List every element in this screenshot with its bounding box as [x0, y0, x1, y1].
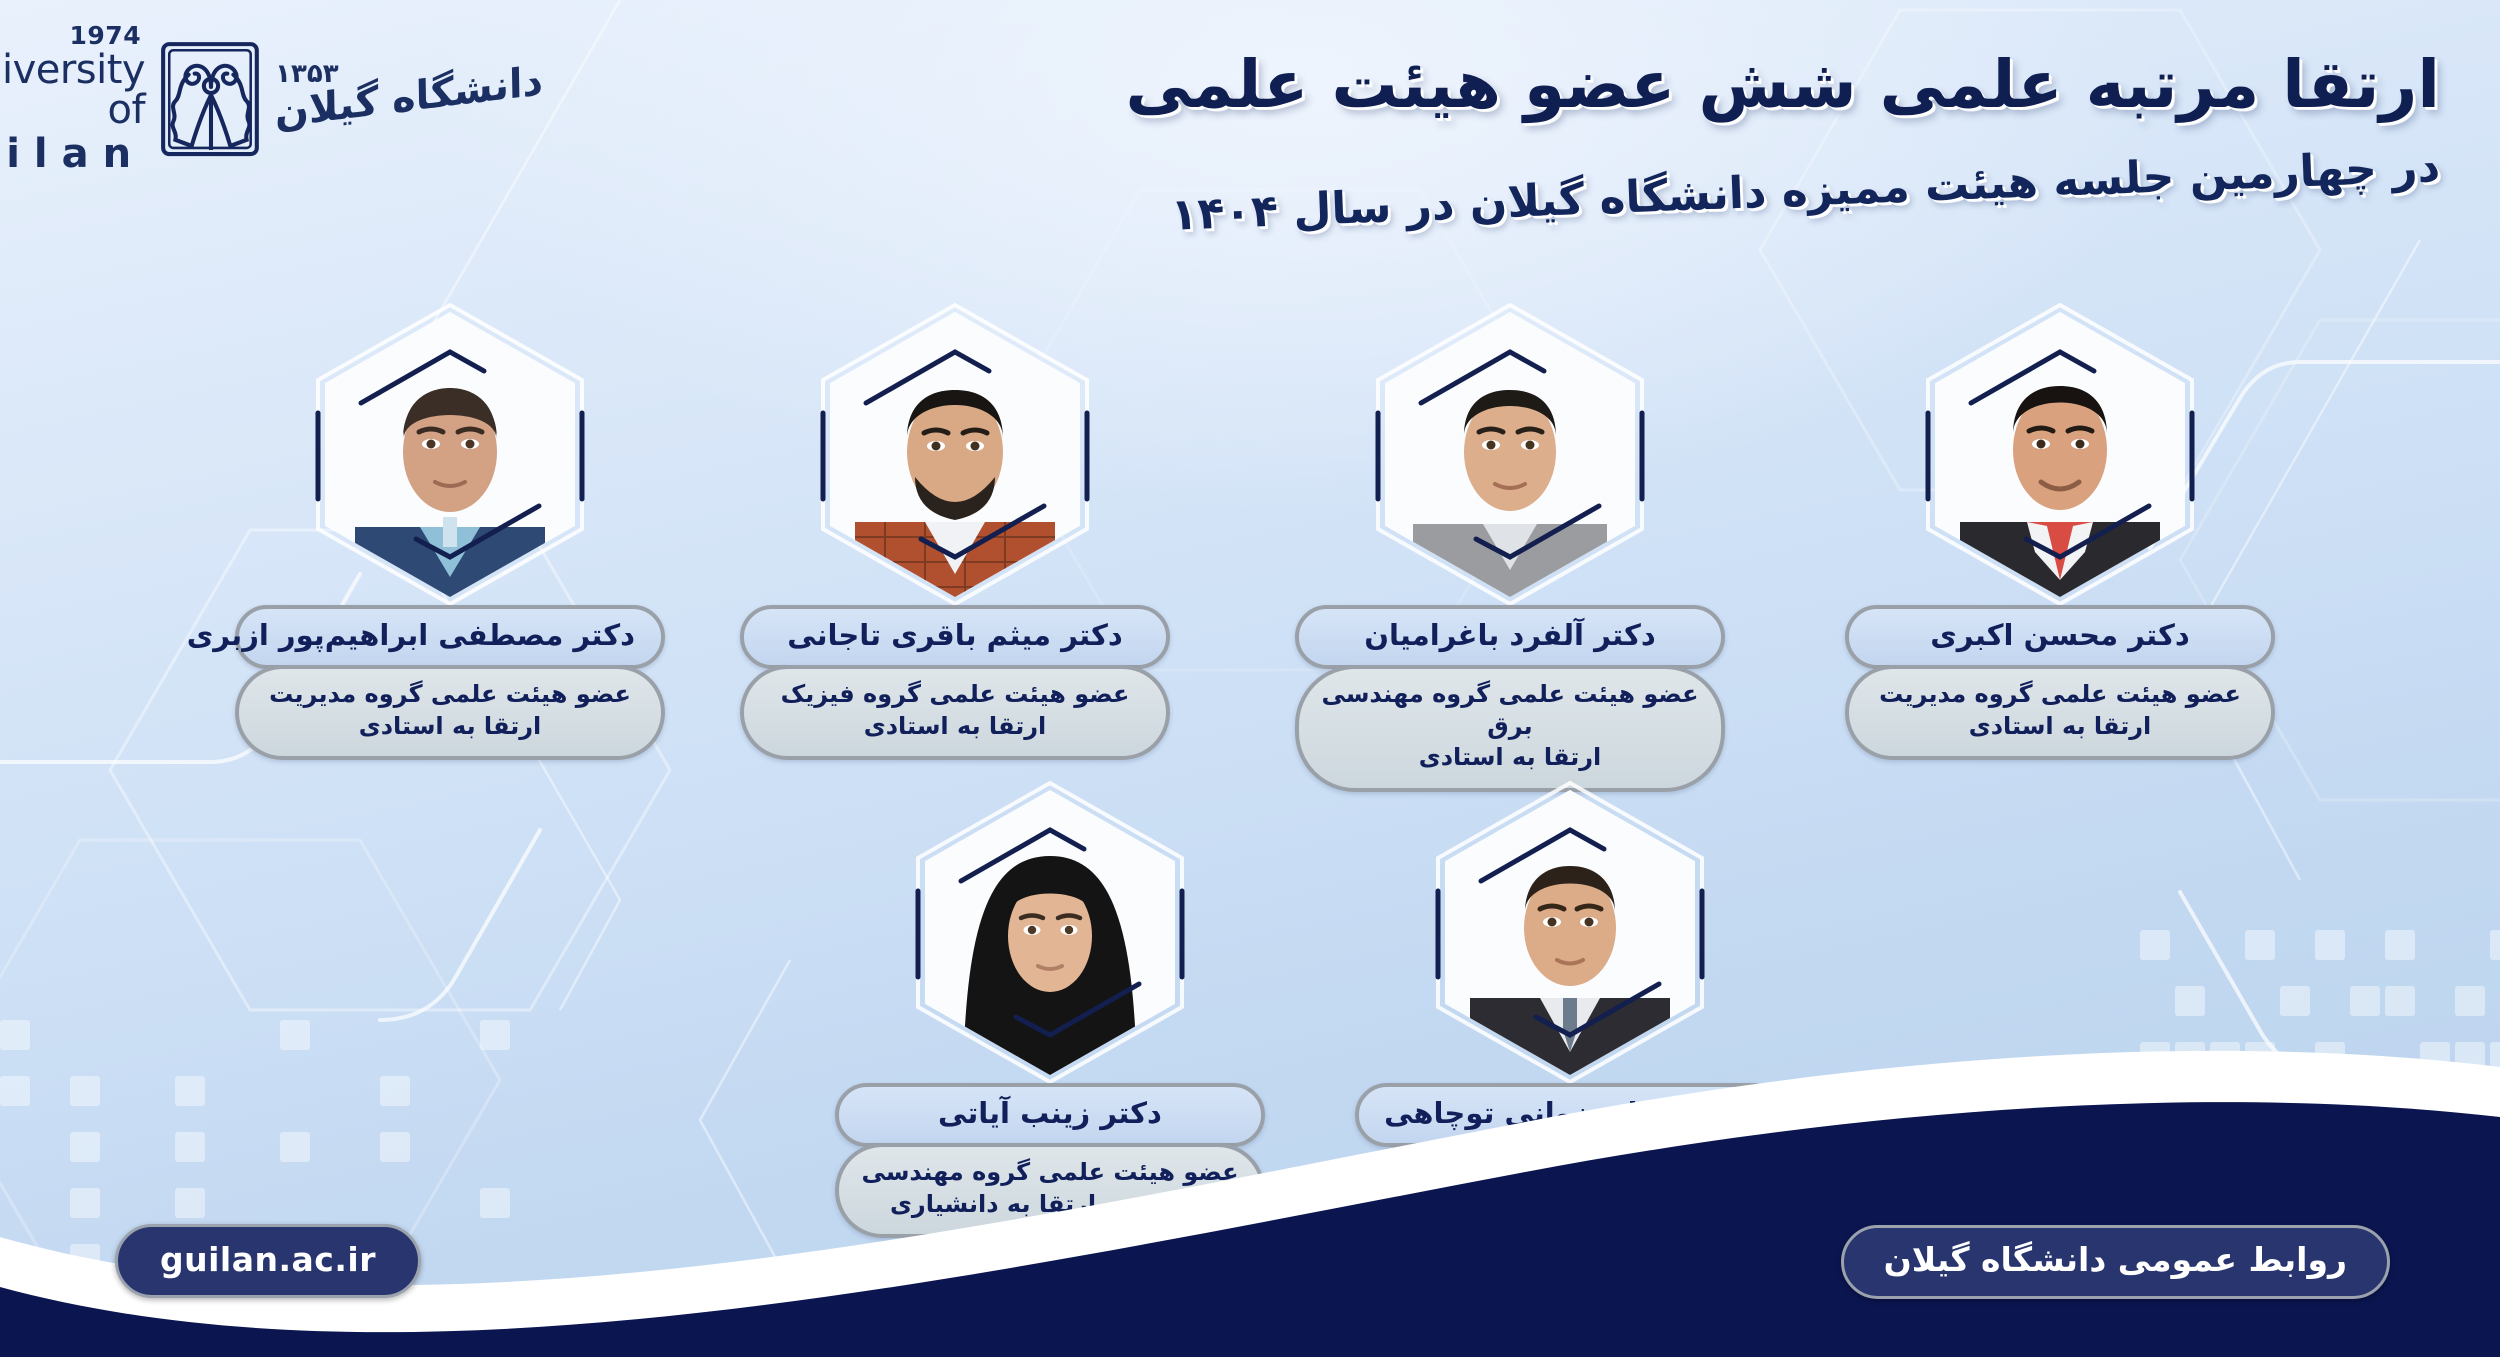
member-role: عضو هیئت علمی گروه مدیریت ارتقا به استاد…: [235, 665, 665, 760]
member-card[interactable]: دکتر مصطفی ابراهیم‌پور ازبری عضو هیئت عل…: [235, 312, 665, 760]
member-photo-frame: [325, 312, 575, 597]
member-card[interactable]: دکتر میثم باقری تاجانی عضو هیئت علمی گرو…: [740, 312, 1170, 760]
member-photo-outline: [1926, 303, 2194, 606]
public-relations-badge: روابط عمومی دانشگاه گیلان: [1841, 1225, 2390, 1299]
member-photo-outline: [1376, 303, 1644, 606]
member-role-line1: عضو هیئت علمی گروه مدیریت: [1879, 680, 2241, 708]
website-url-badge[interactable]: guilan.ac.ir: [115, 1224, 421, 1298]
member-role: عضو هیئت علمی گروه مدیریت ارتقا به استاد…: [1845, 665, 2275, 760]
member-role-line1: عضو هیئت علمی گروه مهندسی برق: [1322, 680, 1699, 740]
member-role-line2: ارتقا به استادی: [1871, 711, 2249, 743]
member-role-line2: ارتقا به استادی: [261, 711, 639, 743]
member-photo-outline: [821, 303, 1089, 606]
member-name: دکتر مصطفی ابراهیم‌پور ازبری: [235, 605, 665, 669]
member-name: دکتر محسن اکبری: [1845, 605, 2275, 669]
member-name: دکتر میثم باقری تاجانی: [740, 605, 1170, 669]
member-role-line1: عضو هیئت علمی گروه مدیریت: [269, 680, 631, 708]
member-role-line2: ارتقا به استادی: [766, 711, 1144, 743]
poster-canvas: 1974 University of Guilan ۱۳۵۳ دانشگاه گ…: [0, 0, 2500, 1357]
member-photo-frame: [830, 312, 1080, 597]
member-photo-frame: [1935, 312, 2185, 597]
member-role: عضو هیئت علمی گروه مهندسی برق ارتقا به ا…: [1295, 665, 1725, 792]
member-card[interactable]: دکتر محسن اکبری عضو هیئت علمی گروه مدیری…: [1845, 312, 2275, 760]
member-photo-outline: [316, 303, 584, 606]
member-photo-frame: [1385, 312, 1635, 597]
member-role-line1: عضو هیئت علمی گروه فیزیک: [781, 680, 1130, 708]
member-role-line2: ارتقا به استادی: [1321, 742, 1699, 774]
member-card[interactable]: دکتر آلفرد باغرامیان عضو هیئت علمی گروه …: [1295, 312, 1725, 792]
member-name: دکتر آلفرد باغرامیان: [1295, 605, 1725, 669]
member-role: عضو هیئت علمی گروه فیزیک ارتقا به استادی: [740, 665, 1170, 760]
